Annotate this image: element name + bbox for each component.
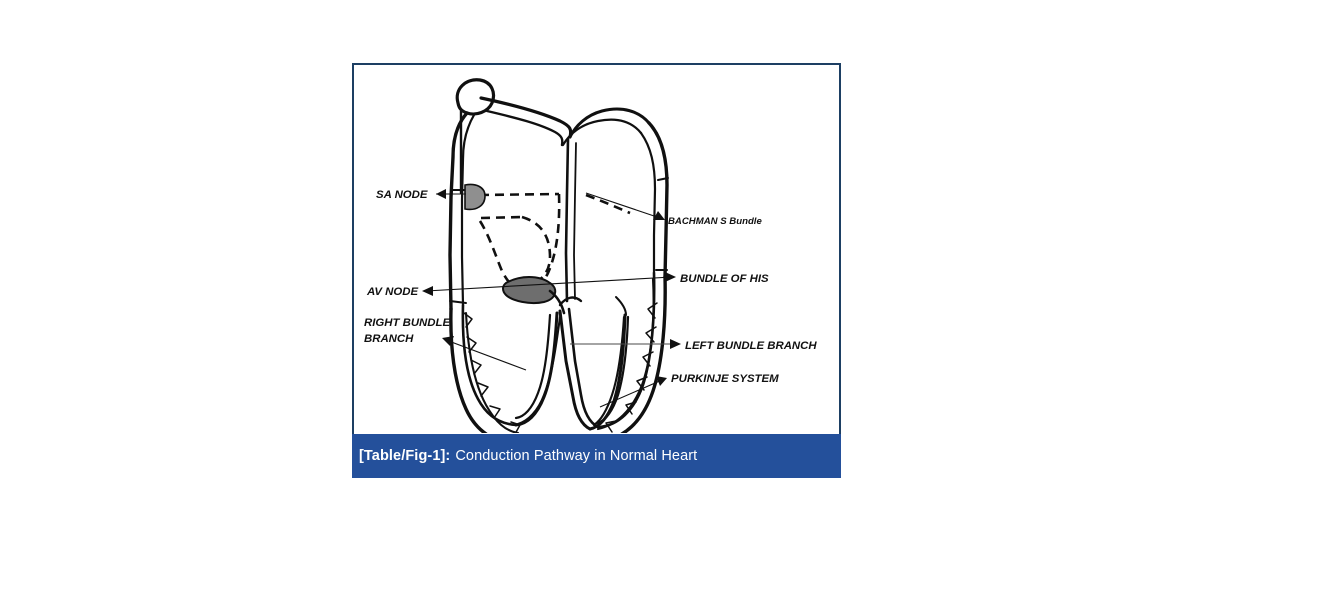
figure-caption-bar: [Table/Fig-1]: Conduction Pathway in Nor…: [352, 434, 841, 478]
atrial-roof-outer: [481, 98, 571, 137]
interatrial-groove: [570, 109, 649, 137]
interatrial-groove-inner: [563, 120, 641, 145]
left-atrium-outer-wall: [649, 123, 667, 277]
bachmann-bundle-dashed: [586, 195, 630, 213]
right-ventricle-outer-wall: [451, 309, 516, 433]
interatrial-septum: [566, 139, 568, 301]
label-right-bundle-branch-line1: RIGHT BUNDLE: [364, 317, 450, 329]
label-right-bundle-branch-line2: BRANCH: [364, 333, 414, 345]
figure-caption-tag: [Table/Fig-1]:: [359, 448, 450, 464]
sa-node-shape: [465, 184, 485, 209]
left-atrium-inner-wall: [641, 133, 655, 273]
purkinje-fibers-right-ventricle: [464, 313, 560, 433]
figure-caption-text: Conduction Pathway in Normal Heart: [455, 448, 697, 464]
right-ventricle-endocardium: [463, 305, 516, 425]
right-ventricle-septal-inner: [516, 315, 550, 418]
left-ventricle-septal-wall: [590, 315, 625, 429]
av-node-shape: [503, 277, 555, 303]
av-node-marker: [503, 277, 564, 313]
left-av-valve-annulus: [616, 297, 626, 315]
aortic-root-outline: [560, 298, 581, 305]
sa-node-marker: [465, 184, 485, 209]
sa-node-arrowhead: [436, 189, 446, 199]
interventricular-septum-right-edge: [569, 309, 598, 427]
right-ventricle-purkinje-trunk: [466, 313, 518, 433]
left-bundle-branch-arrowhead: [670, 339, 681, 349]
internodal-dashed-pathways: [480, 194, 630, 293]
label-sa-node: SA NODE: [376, 189, 428, 201]
bachman-bundle-leader: [586, 193, 660, 218]
heart-outline-group: [450, 80, 668, 433]
anterior-internodal-tract: [480, 194, 559, 195]
av-node-arrowhead: [422, 286, 433, 296]
figure-block: SA NODE BACHMAN S Bundle AV NODE BUNDLE …: [352, 63, 841, 478]
figure-image-canvas: SA NODE BACHMAN S Bundle AV NODE BUNDLE …: [352, 63, 841, 435]
superior-vena-cava-outline: [457, 80, 493, 114]
heart-conduction-diagram: SA NODE BACHMAN S Bundle AV NODE BUNDLE …: [354, 65, 839, 433]
middle-internodal-tract: [481, 217, 522, 218]
label-bachman-bundle: BACHMAN S Bundle: [668, 216, 762, 227]
right-bundle-branch-leader: [446, 340, 526, 370]
interatrial-septum-inner: [574, 143, 576, 299]
bundle-of-his-arrowhead: [665, 272, 676, 282]
label-left-bundle-branch: LEFT BUNDLE BRANCH: [685, 340, 817, 352]
label-purkinje-system: PURKINJE SYSTEM: [671, 373, 779, 385]
label-bundle-of-his: BUNDLE OF HIS: [680, 273, 769, 285]
label-av-node: AV NODE: [366, 286, 418, 298]
